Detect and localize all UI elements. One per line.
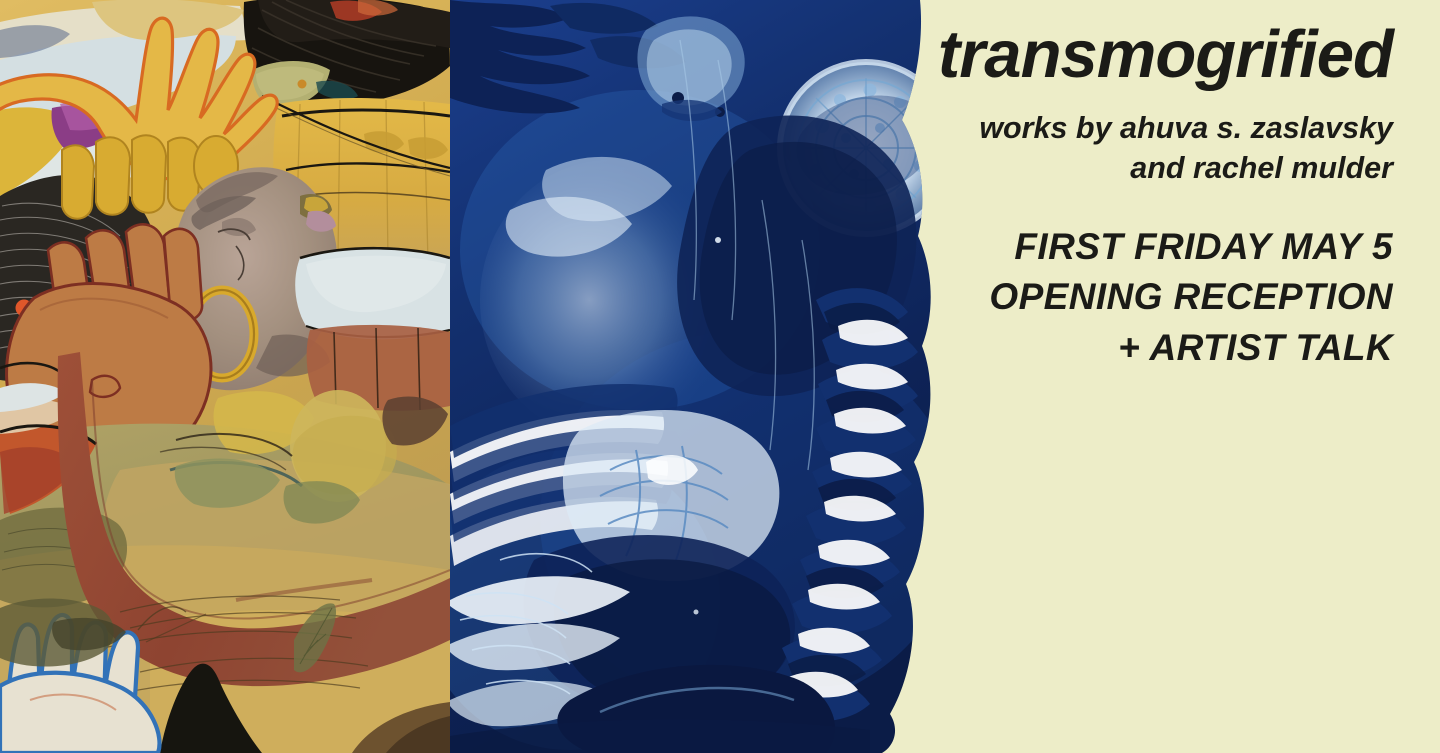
artist-line-2: and rachel mulder [833, 148, 1393, 188]
poster-text-block: transmogrified works by ahuva s. zaslavs… [833, 0, 1393, 753]
mixed-media-painting [0, 0, 450, 753]
page-title: transmogrified [833, 21, 1393, 88]
event-details: FIRST FRIDAY MAY 5 OPENING RECEPTION + A… [833, 222, 1393, 373]
painting-artwork [0, 0, 450, 753]
event-reception-line: OPENING RECEPTION [833, 272, 1393, 322]
event-poster: transmogrified works by ahuva s. zaslavs… [0, 0, 1440, 753]
event-artist-talk-line: + ARTIST TALK [833, 323, 1393, 373]
artists-credit: works by ahuva s. zaslavsky and rachel m… [833, 108, 1393, 189]
event-date-line: FIRST FRIDAY MAY 5 [833, 222, 1393, 272]
artist-line-1: works by ahuva s. zaslavsky [833, 108, 1393, 148]
